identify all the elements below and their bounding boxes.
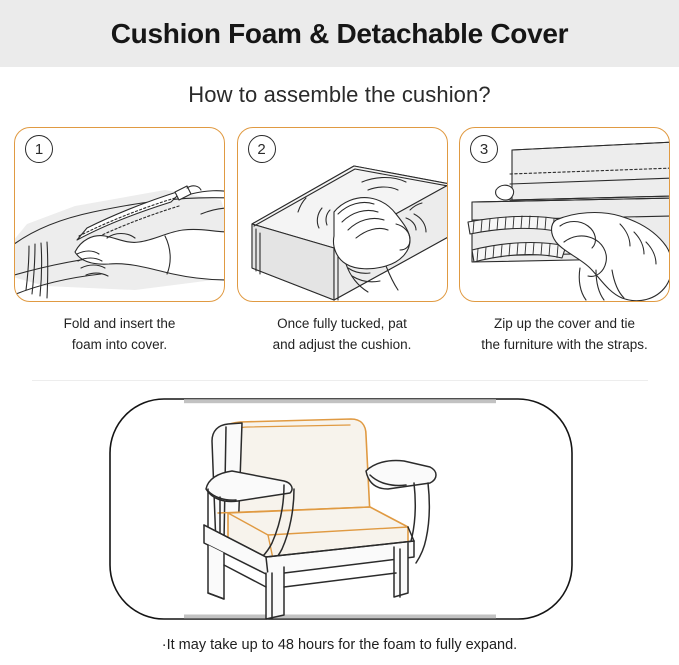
step-3-caption-line-1: Zip up the cover and tie [459, 314, 670, 335]
step-3-number: 3 [470, 135, 498, 163]
footer-note: ·It may take up to 48 hours for the foam… [0, 637, 679, 653]
step-2-caption-line-2: and adjust the cushion. [237, 335, 448, 356]
step-1-box: 1 [14, 127, 225, 302]
step-1: 1 [14, 127, 225, 356]
armchair-panel [108, 397, 574, 621]
steps-row: 1 [14, 127, 670, 356]
step-2-caption-line-1: Once fully tucked, pat [237, 314, 448, 335]
step-2-number: 2 [248, 135, 276, 163]
step-1-caption-line-2: foam into cover. [14, 335, 225, 356]
step-2-box: 2 [237, 127, 448, 302]
step-3-box: 3 [459, 127, 670, 302]
step-1-caption-line-1: Fold and insert the [14, 314, 225, 335]
step-1-caption: Fold and insert the foam into cover. [14, 314, 225, 356]
step-3: 3 [459, 127, 670, 356]
page-title: Cushion Foam & Detachable Cover [111, 18, 568, 50]
step-1-number: 1 [25, 135, 53, 163]
step-3-caption-line-2: the furniture with the straps. [459, 335, 670, 356]
step-2-caption: Once fully tucked, pat and adjust the cu… [237, 314, 448, 356]
subtitle: How to assemble the cushion? [0, 82, 679, 108]
header-band: Cushion Foam & Detachable Cover [0, 0, 679, 67]
armchair-illustration [108, 397, 574, 621]
step-2: 2 [237, 127, 448, 356]
section-divider [32, 380, 648, 381]
step-3-caption: Zip up the cover and tie the furniture w… [459, 314, 670, 356]
